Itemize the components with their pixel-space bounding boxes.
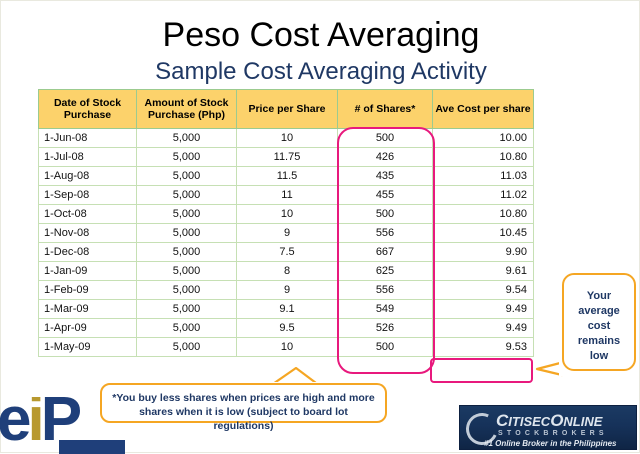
cell-price: 10: [237, 205, 338, 224]
slide-canvas: Peso Cost Averaging Sample Cost Averagin…: [0, 0, 640, 453]
cell-amount: 5,000: [137, 243, 237, 262]
cell-shares: 625: [338, 262, 433, 281]
cell-price: 9.5: [237, 319, 338, 338]
cell-date: 1-Feb-09: [39, 281, 137, 300]
cell-date: 1-Apr-09: [39, 319, 137, 338]
cell-date: 1-Dec-08: [39, 243, 137, 262]
cell-shares: 435: [338, 167, 433, 186]
callout-footnote: *You buy less shares when prices are hig…: [100, 383, 387, 423]
cell-price: 9: [237, 281, 338, 300]
table-row: 1-May-095,000105009.53: [39, 338, 534, 357]
cell-average: 9.54: [433, 281, 534, 300]
table-row: 1-Dec-085,0007.56679.90: [39, 243, 534, 262]
eip-logo: eiP: [0, 397, 125, 454]
eip-logo-letter-e: e: [0, 397, 27, 454]
table-row: 1-Jul-085,00011.7542610.80: [39, 148, 534, 167]
cost-averaging-table: Date of Stock Purchase Amount of Stock P…: [38, 89, 534, 357]
table-body: 1-Jun-085,0001050010.001-Jul-085,00011.7…: [39, 129, 534, 357]
cell-shares: 549: [338, 300, 433, 319]
cell-average: 10.00: [433, 129, 534, 148]
cell-price: 8: [237, 262, 338, 281]
cell-date: 1-Jul-08: [39, 148, 137, 167]
cell-average: 9.90: [433, 243, 534, 262]
page-subtitle: Sample Cost Averaging Activity: [1, 58, 640, 86]
highlight-final-average: [430, 358, 533, 383]
cell-price: 10: [237, 129, 338, 148]
column-header-ave: Ave Cost per share: [433, 90, 534, 129]
cell-amount: 5,000: [137, 129, 237, 148]
table-header-row: Date of Stock Purchase Amount of Stock P…: [39, 90, 534, 129]
cell-shares: 500: [338, 205, 433, 224]
cell-shares: 500: [338, 129, 433, 148]
cell-price: 11.5: [237, 167, 338, 186]
cell-shares: 556: [338, 281, 433, 300]
table-row: 1-Nov-085,000955610.45: [39, 224, 534, 243]
cell-amount: 5,000: [137, 167, 237, 186]
citisec-name-o: O: [550, 411, 563, 430]
cell-average: 9.49: [433, 300, 534, 319]
table-row: 1-Mar-095,0009.15499.49: [39, 300, 534, 319]
cell-price: 9.1: [237, 300, 338, 319]
citisec-subtitle: STOCKBROKERS: [498, 430, 608, 437]
cell-price: 7.5: [237, 243, 338, 262]
cell-shares: 526: [338, 319, 433, 338]
cell-date: 1-Jan-09: [39, 262, 137, 281]
cell-amount: 5,000: [137, 319, 237, 338]
cell-average: 10.45: [433, 224, 534, 243]
citisec-name-c: C: [496, 411, 508, 430]
cell-shares: 556: [338, 224, 433, 243]
cell-date: 1-May-09: [39, 338, 137, 357]
cell-date: 1-Nov-08: [39, 224, 137, 243]
cell-average: 10.80: [433, 205, 534, 224]
cell-shares: 667: [338, 243, 433, 262]
cell-date: 1-Jun-08: [39, 129, 137, 148]
page-title: Peso Cost Averaging: [1, 15, 640, 55]
eip-logo-letter-i: i: [27, 397, 40, 454]
cell-average: 9.49: [433, 319, 534, 338]
citisec-online-logo: CITISECONLINE STOCKBROKERS #1 Online Bro…: [459, 405, 637, 450]
cell-average: 11.02: [433, 186, 534, 205]
cell-average: 11.03: [433, 167, 534, 186]
cell-price: 10: [237, 338, 338, 357]
cell-average: 10.80: [433, 148, 534, 167]
column-header-price: Price per Share: [237, 90, 338, 129]
cell-price: 11: [237, 186, 338, 205]
cell-price: 11.75: [237, 148, 338, 167]
table-row: 1-Jan-095,00086259.61: [39, 262, 534, 281]
cell-date: 1-Sep-08: [39, 186, 137, 205]
cell-date: 1-Aug-08: [39, 167, 137, 186]
citisec-name-itisec: ITISEC: [508, 414, 550, 429]
cell-amount: 5,000: [137, 338, 237, 357]
cell-amount: 5,000: [137, 186, 237, 205]
table-row: 1-Feb-095,00095569.54: [39, 281, 534, 300]
citisec-tagline: #1 Online Broker in the Philippines: [484, 439, 616, 448]
cell-amount: 5,000: [137, 224, 237, 243]
cell-shares: 426: [338, 148, 433, 167]
cell-amount: 5,000: [137, 262, 237, 281]
citisec-wordmark: CITISECONLINE: [496, 411, 602, 431]
table-row: 1-Sep-085,0001145511.02: [39, 186, 534, 205]
callout-average-cost: Your average cost remains low: [562, 273, 636, 371]
cell-amount: 5,000: [137, 205, 237, 224]
eip-logo-bar: [59, 440, 125, 454]
column-header-date: Date of Stock Purchase: [39, 90, 137, 129]
cell-average: 9.61: [433, 262, 534, 281]
cell-price: 9: [237, 224, 338, 243]
cell-shares: 455: [338, 186, 433, 205]
column-header-shares: # of Shares*: [338, 90, 433, 129]
cost-averaging-table-container: Date of Stock Purchase Amount of Stock P…: [38, 89, 533, 357]
cell-date: 1-Mar-09: [39, 300, 137, 319]
cell-amount: 5,000: [137, 300, 237, 319]
cell-amount: 5,000: [137, 281, 237, 300]
citisec-name-nline: NLINE: [563, 414, 602, 429]
table-row: 1-Oct-085,0001050010.80: [39, 205, 534, 224]
cell-amount: 5,000: [137, 148, 237, 167]
cell-shares: 500: [338, 338, 433, 357]
table-row: 1-Apr-095,0009.55269.49: [39, 319, 534, 338]
cell-date: 1-Oct-08: [39, 205, 137, 224]
table-row: 1-Jun-085,0001050010.00: [39, 129, 534, 148]
column-header-amount: Amount of Stock Purchase (Php): [137, 90, 237, 129]
table-row: 1-Aug-085,00011.543511.03: [39, 167, 534, 186]
cell-average: 9.53: [433, 338, 534, 357]
callout-right-tail-icon: [535, 359, 565, 377]
